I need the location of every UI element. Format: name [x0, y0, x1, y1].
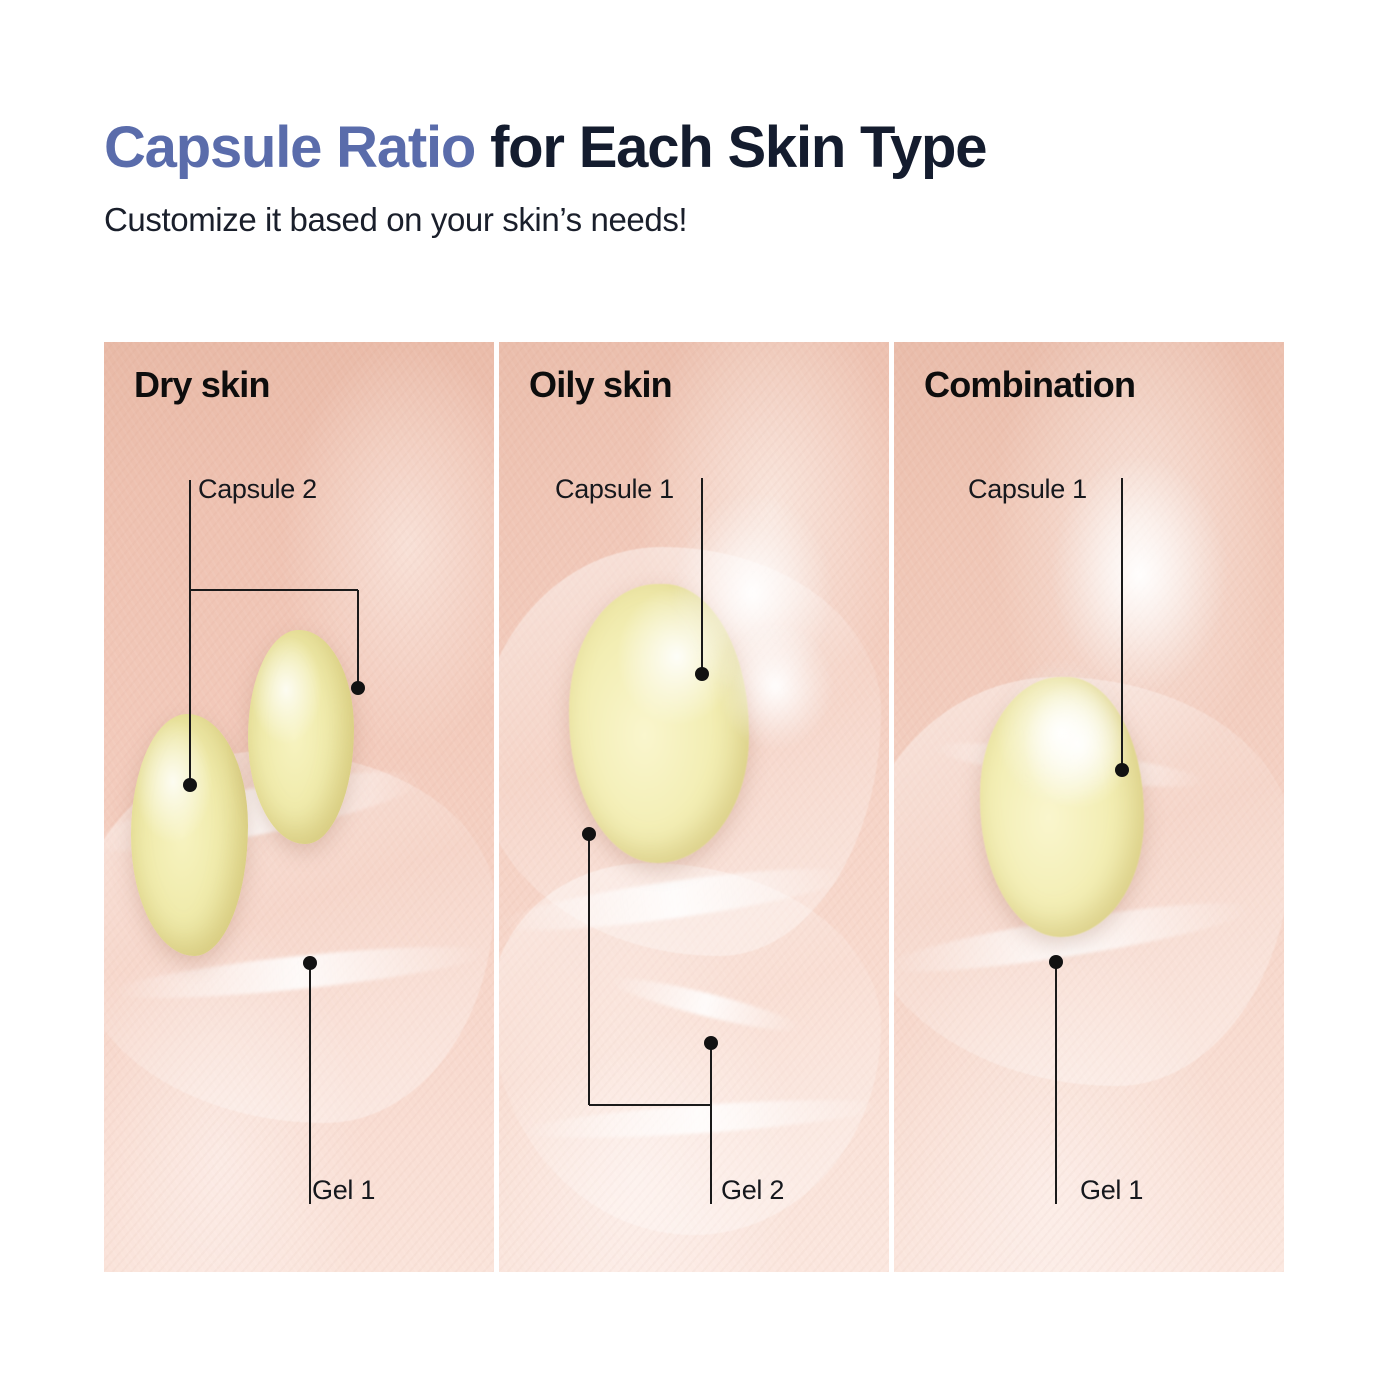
capsule-label-dry: Capsule 2 — [198, 474, 317, 505]
panel-oily-skin: Oily skin Capsule 1 Gel 2 — [499, 342, 889, 1272]
panel-title-dry: Dry skin — [134, 364, 270, 406]
capsule-label-combination: Capsule 1 — [968, 474, 1087, 505]
page-title-accent: Capsule Ratio — [104, 115, 475, 180]
panel-title-oily: Oily skin — [529, 364, 672, 406]
gel-label-oily: Gel 2 — [721, 1175, 784, 1206]
capsule-blob-dry-2 — [248, 630, 353, 844]
capsule-label-oily: Capsule 1 — [555, 474, 674, 505]
skin-type-panel-group: Dry skin Capsule 2 Gel 1 Oily skin Capsu… — [104, 342, 1284, 1272]
panel-combination-skin: Combination Capsule 1 Gel 1 — [894, 342, 1284, 1272]
page-title: Capsule Ratio for Each Skin Type — [104, 118, 1304, 179]
page-title-rest: for Each Skin Type — [475, 115, 986, 180]
foam-patch-oily-2 — [717, 621, 834, 751]
capsule-blob-dry-1 — [131, 714, 248, 956]
gel-label-combination: Gel 1 — [1080, 1175, 1143, 1206]
foam-patch-combination-2 — [995, 658, 1128, 807]
panel-title-combination: Combination — [924, 364, 1135, 406]
panel-dry-skin: Dry skin Capsule 2 Gel 1 — [104, 342, 494, 1272]
page-subtitle: Customize it based on your skin’s needs! — [104, 179, 1304, 239]
gel-label-dry: Gel 1 — [312, 1175, 375, 1206]
page-header: Capsule Ratio for Each Skin Type Customi… — [104, 118, 1304, 239]
